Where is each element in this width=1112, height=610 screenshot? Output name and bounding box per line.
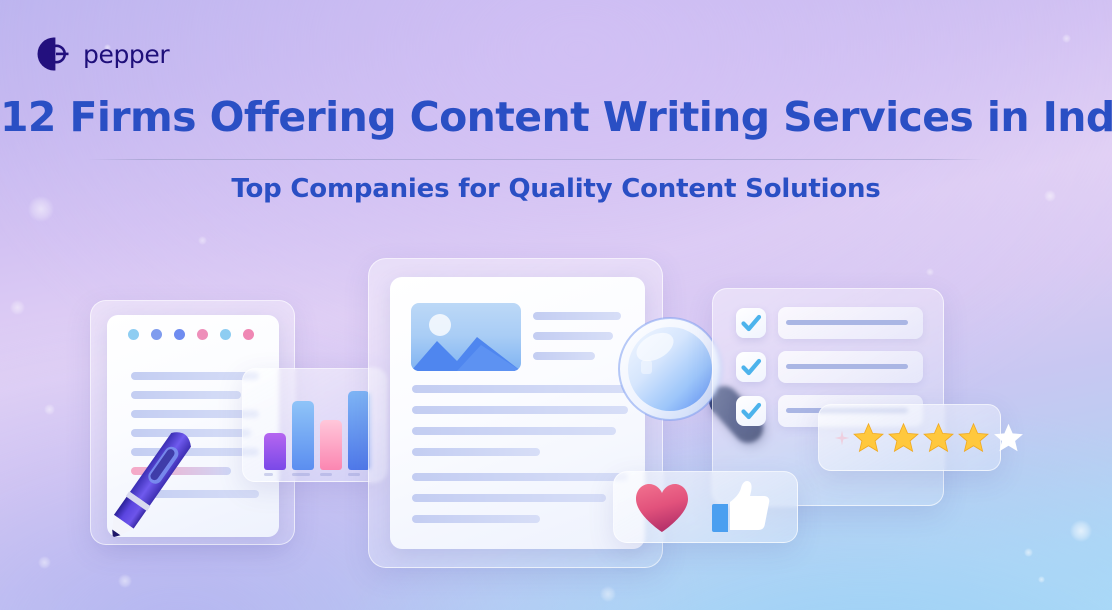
check-icon	[736, 396, 766, 426]
chart-baseline	[320, 473, 332, 476]
chart-bar	[348, 391, 370, 470]
bar-chart-bars	[262, 382, 370, 470]
mountain-shape	[411, 329, 521, 371]
text-line	[412, 473, 628, 481]
content-writing-illustration	[0, 0, 1112, 610]
star-icon-filled[interactable]	[957, 421, 990, 454]
document-dot	[243, 329, 254, 340]
magnifying-glass-icon	[617, 316, 723, 422]
document-dot	[197, 329, 208, 340]
chart-baseline	[348, 473, 360, 476]
document-dot	[151, 329, 162, 340]
text-line	[533, 332, 613, 340]
thumbs-up-icon[interactable]	[712, 480, 770, 534]
document-dot	[174, 329, 185, 340]
chart-bar	[264, 433, 286, 470]
text-line	[533, 352, 595, 360]
text-line	[131, 410, 259, 418]
text-line	[412, 385, 628, 393]
text-line	[131, 372, 259, 380]
text-line	[786, 320, 908, 325]
chart-bar	[320, 420, 342, 470]
text-line	[412, 494, 606, 502]
text-line	[412, 427, 616, 435]
check-icon	[736, 308, 766, 338]
check-icon	[736, 352, 766, 382]
checkbox-checked[interactable]	[736, 352, 766, 382]
chart-baseline	[292, 473, 310, 476]
image-placeholder-icon	[411, 303, 521, 371]
text-line	[131, 391, 241, 399]
star-icon-filled[interactable]	[922, 421, 955, 454]
text-line	[412, 448, 540, 456]
heart-icon[interactable]	[634, 482, 690, 534]
text-line	[412, 515, 540, 523]
document-dot	[220, 329, 231, 340]
text-line	[412, 406, 628, 414]
chart-baseline	[264, 473, 273, 476]
star-icon-empty[interactable]	[992, 421, 1025, 454]
text-line	[533, 312, 621, 320]
checkbox-checked[interactable]	[736, 308, 766, 338]
star-icon-filled[interactable]	[887, 421, 920, 454]
document-dot	[128, 329, 139, 340]
checkbox-checked[interactable]	[736, 396, 766, 426]
chart-bar	[292, 401, 314, 470]
text-line	[786, 364, 908, 369]
star-icon-filled[interactable]	[852, 421, 885, 454]
star-icon-sparkle	[834, 430, 850, 446]
star-rating-row	[834, 421, 1025, 454]
